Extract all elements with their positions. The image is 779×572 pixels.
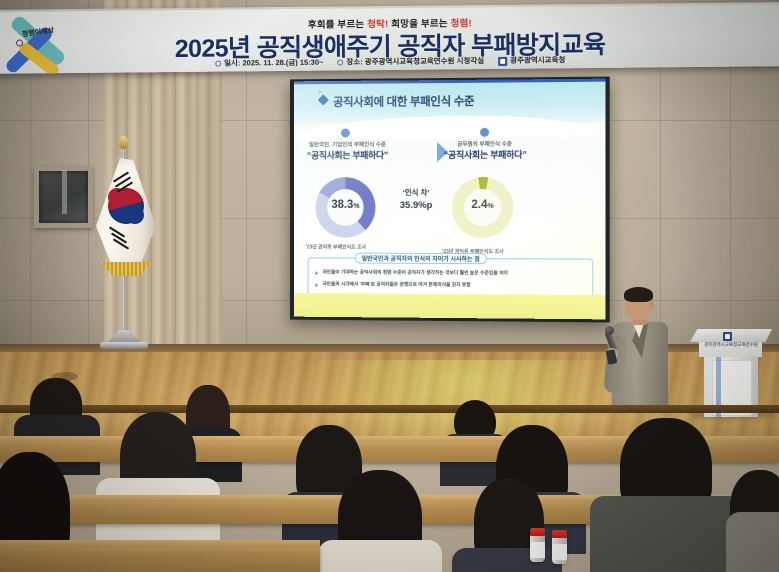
bench-shadow	[0, 405, 779, 413]
beverage-bottle[interactable]	[530, 528, 545, 562]
flag-finial-icon	[119, 136, 128, 149]
donut-value-right-unit: %	[487, 203, 493, 210]
left-column-quote: “공직사회는 부패하다”	[296, 148, 399, 161]
presentation-slide: ✦ 공직사회에 대한 부패인식 수준 일반국민, 기업인의 부패인식 수준 “공…	[294, 79, 606, 320]
slide-footer-band	[294, 293, 606, 319]
right-column-dot-icon	[480, 128, 489, 137]
slide-note-bullet: 국민들의 시각에서 '부패'로 공직자들은 관행으로 여겨 문제의식을 갖지 못…	[322, 280, 470, 288]
bullet-ring-icon	[337, 59, 343, 65]
bottle-cap	[552, 530, 567, 538]
right-column-quote: “공직사회는 부패하다”	[430, 148, 540, 161]
beverage-bottle[interactable]	[552, 530, 567, 564]
donut-value-right: 2.4%	[452, 199, 513, 211]
lectern-label: 광주광역시교육청교육연수원	[692, 342, 770, 348]
audience-torso	[318, 540, 442, 572]
slide-title: 공직사회에 대한 부패인식 수준	[333, 93, 474, 110]
donut-value-left-unit: %	[353, 203, 359, 210]
bullet-triangle-icon	[315, 271, 318, 275]
presenter-ear	[649, 301, 654, 308]
bench-row-near	[0, 545, 320, 572]
perception-gap-label: ‘인식 차’	[388, 188, 444, 199]
donut-value-left-number: 38.3	[331, 199, 353, 211]
window-glint	[62, 170, 67, 214]
left-column-dot-icon	[341, 129, 350, 138]
lectern-emblem-icon	[723, 332, 732, 341]
bottle-label	[530, 542, 545, 558]
perception-gap-block: ‘인식 차’ 35.9%p	[388, 188, 444, 213]
audience-torso	[452, 548, 562, 572]
slide-note-bullet: 국민들이 기대하는 공직사회의 청렴 수준이 공직자가 생각하는 것보다 훨씬 …	[322, 268, 508, 276]
donut-value-right-number: 2.4	[471, 199, 487, 211]
slide-note-caption: 일반국민과 공직자의 인식의 차이가 시사하는 점	[355, 253, 487, 265]
banner-org: 광주광역시교육청	[510, 55, 565, 65]
left-source-caption: '23년 권익위 부패인식도 조사	[306, 244, 366, 251]
microphone-icon	[605, 326, 614, 335]
event-banner: 청렴이세상 광주광역시교육청 청렴 × 후회를 부르는 청탁! 희망을 부르는 …	[0, 2, 779, 74]
audience-torso	[590, 496, 742, 572]
bullet-ring-icon	[215, 61, 221, 67]
flag-stand-base	[100, 342, 148, 349]
banner-date: 일시: 2025. 11. 28.(금) 15:30~	[224, 58, 323, 68]
audience-torso	[726, 512, 779, 572]
presentation-room-photo: 청렴이세상 광주광역시교육청 청렴 × 후회를 부르는 청탁! 희망을 부르는 …	[0, 0, 779, 572]
bench-top-edge	[0, 540, 320, 547]
bullet-triangle-icon	[315, 283, 318, 287]
banner-place: 장소: 광주광역시교육청교육연수원 시청각실	[346, 56, 484, 66]
presenter-hair	[624, 287, 653, 302]
perception-gap-value: 35.9%p	[388, 199, 444, 213]
bottle-label	[552, 544, 567, 560]
taeguk-blue-lobe	[126, 206, 144, 224]
donut-value-left: 38.3%	[315, 199, 375, 211]
education-office-emblem-icon	[498, 56, 507, 65]
bottle-cap	[530, 528, 545, 536]
